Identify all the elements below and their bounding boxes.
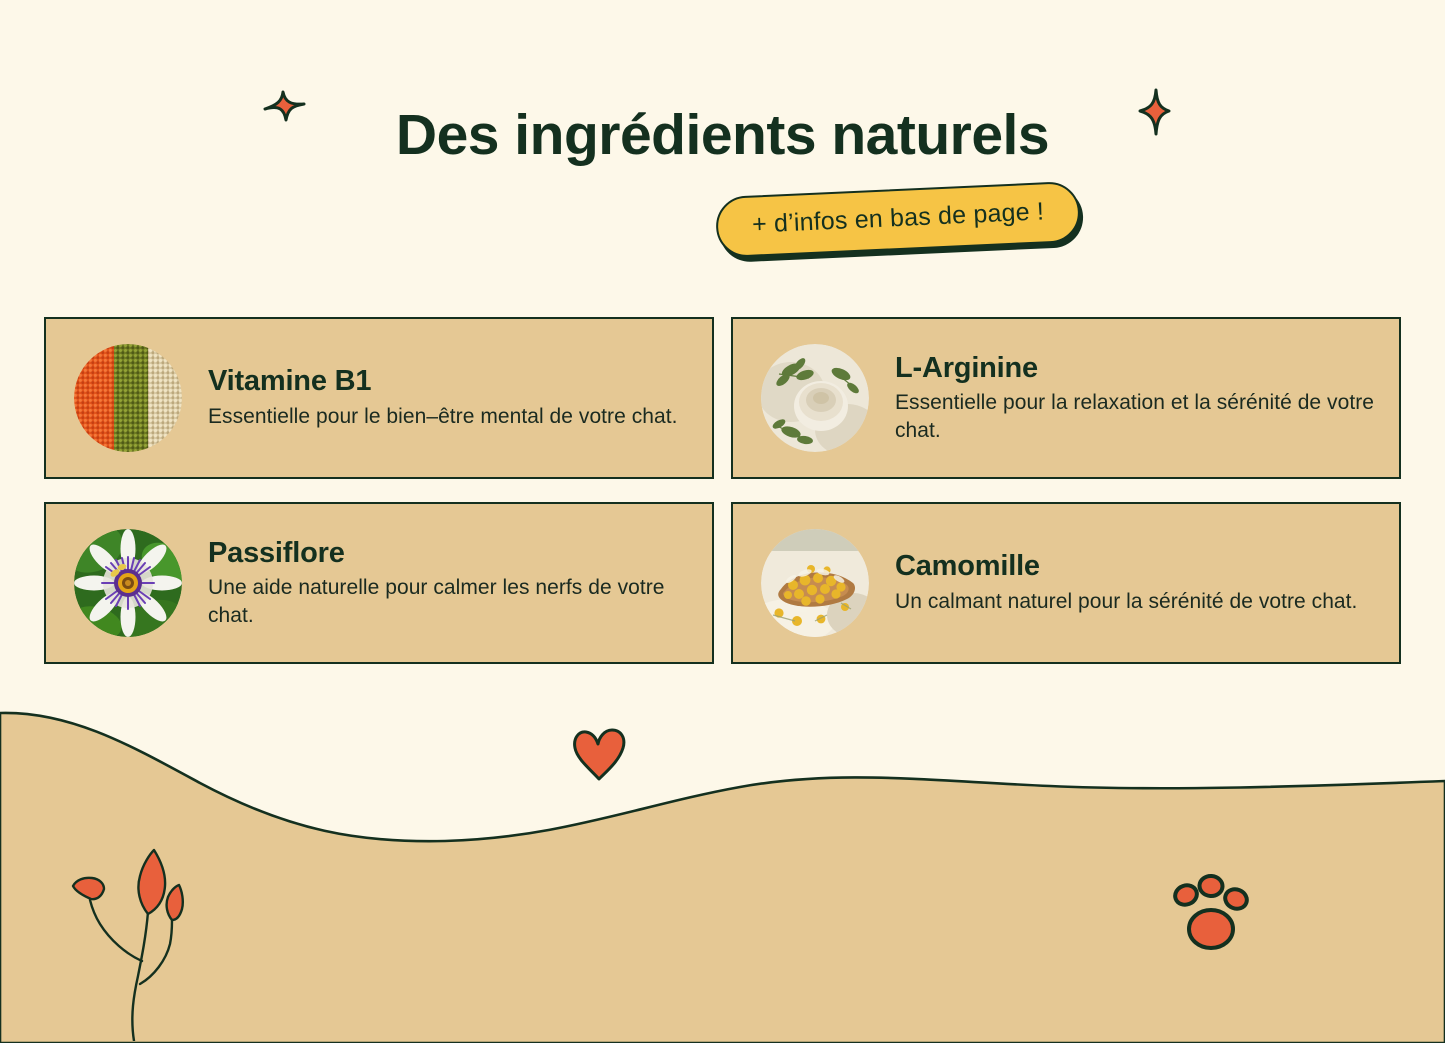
ingredient-description: Une aide naturelle pour calmer les nerfs… — [208, 574, 690, 629]
jar-with-leaves-photo — [761, 344, 869, 452]
ingredient-description: Essentielle pour la relaxation et la sér… — [895, 389, 1377, 444]
ingredient-card[interactable]: Passiflore Une aide naturelle pour calme… — [44, 502, 714, 664]
info-badge[interactable]: + d’infos en bas de page ! — [716, 189, 1080, 250]
ingredient-description: Un calmant naturel pour la sérénité de v… — [895, 588, 1377, 616]
ingredient-title: Passiflore — [208, 537, 690, 570]
ingredient-thumbnail-camomille — [761, 529, 869, 637]
info-badge-label: + d’infos en bas de page ! — [751, 197, 1044, 238]
ingredient-card[interactable]: L-Arginine Essentielle pour la relaxatio… — [731, 317, 1401, 479]
ingredients-section: Des ingrédients naturels + d’infos en ba… — [0, 0, 1445, 1043]
lentils-photo — [74, 344, 182, 452]
ingredient-card-body: Camomille Un calmant naturel pour la sér… — [895, 550, 1377, 615]
chamomile-photo — [761, 529, 869, 637]
ingredient-card[interactable]: Vitamine B1 Essentielle pour le bien–êtr… — [44, 317, 714, 479]
ingredient-title: Vitamine B1 — [208, 365, 690, 398]
paw-print-icon — [1166, 862, 1258, 954]
page-title: Des ingrédients naturels — [0, 104, 1445, 167]
ingredient-card[interactable]: Camomille Un calmant naturel pour la sér… — [731, 502, 1401, 664]
ingredient-thumbnail-vitamine-b1 — [74, 344, 182, 452]
ingredient-title: Camomille — [895, 550, 1377, 583]
ingredient-thumbnail-passiflore — [74, 529, 182, 637]
ingredient-card-body: L-Arginine Essentielle pour la relaxatio… — [895, 352, 1377, 445]
ingredient-thumbnail-l-arginine — [761, 344, 869, 452]
passionflower-photo — [74, 529, 182, 637]
ingredient-title: L-Arginine — [895, 352, 1377, 385]
heart-shape — [570, 728, 628, 782]
ingredient-card-body: Vitamine B1 Essentielle pour le bien–êtr… — [208, 365, 690, 430]
heart-icon — [570, 728, 628, 782]
ingredient-description: Essentielle pour le bien–être mental de … — [208, 403, 690, 431]
plant-branch-shape — [62, 836, 242, 1041]
paw-print-shape — [1166, 862, 1258, 954]
info-badge-pill[interactable]: + d’infos en bas de page ! — [715, 181, 1082, 258]
plant-branch-icon — [62, 836, 242, 1041]
ingredient-card-grid: Vitamine B1 Essentielle pour le bien–êtr… — [44, 317, 1401, 664]
ingredient-card-body: Passiflore Une aide naturelle pour calme… — [208, 537, 690, 630]
